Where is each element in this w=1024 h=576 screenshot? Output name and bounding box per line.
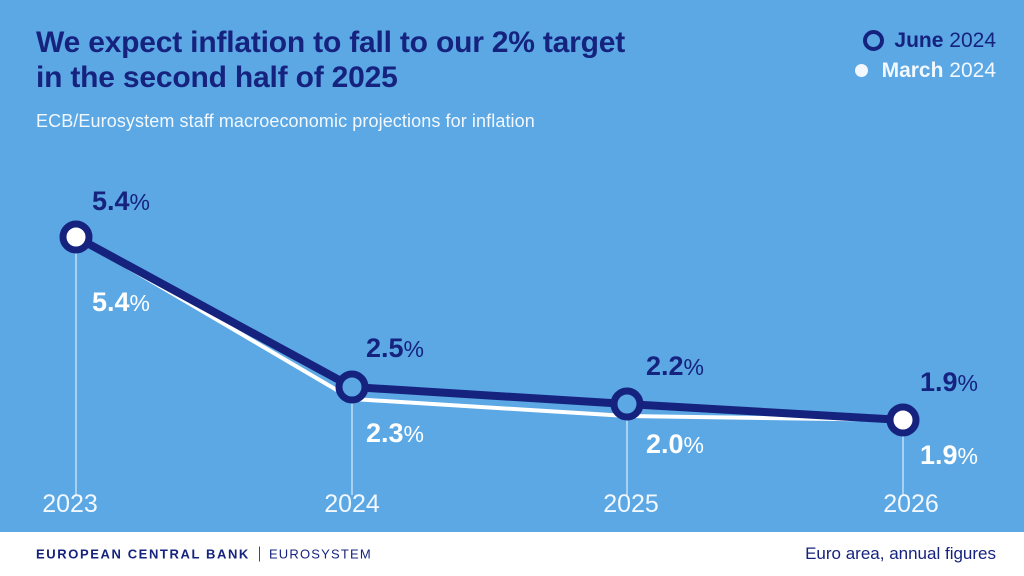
legend-item-june[interactable]: June 2024 [863, 30, 996, 51]
legend-march-name: March [882, 59, 944, 82]
legend-june-name: June [894, 29, 943, 52]
gridlines [76, 245, 903, 495]
logo-divider [259, 547, 260, 562]
x-tick-2023: 2023 [42, 492, 98, 517]
footer-note: Euro area, annual figures [805, 544, 996, 564]
ecb-logo: EUROPEAN CENTRAL BANK EUROSYSTEM [36, 547, 372, 562]
series-line-june [76, 237, 903, 420]
chart-panel: We expect inflation to fall to our 2% ta… [0, 0, 1024, 532]
value-label-march-2023: 5.4% [92, 289, 150, 316]
footer-bar: EUROPEAN CENTRAL BANK EUROSYSTEM Euro ar… [0, 532, 1024, 576]
legend-item-march[interactable]: March 2024 [855, 60, 996, 81]
ring-marker-icon [863, 30, 884, 51]
x-tick-2026: 2026 [883, 492, 939, 517]
legend-june-year: 2024 [949, 29, 996, 52]
value-label-march-2025: 2.0% [646, 431, 704, 458]
legend-label-march: March 2024 [882, 60, 996, 81]
title-line-2: in the second half of 2025 [36, 61, 736, 96]
logo-primary-text: EUROPEAN CENTRAL BANK [36, 547, 250, 562]
page-subtitle: ECB/Eurosystem staff macroeconomic proje… [36, 111, 736, 132]
value-label-june-2023: 5.4% [92, 188, 150, 215]
x-axis: 2023 2024 2025 2026 [0, 492, 1024, 526]
value-label-june-2026: 1.9% [920, 369, 978, 396]
value-label-june-2024: 2.5% [366, 335, 424, 362]
logo-secondary-text: EUROSYSTEM [269, 547, 372, 562]
title-line-1: We expect inflation to fall to our 2% ta… [36, 26, 625, 59]
legend-label-june: June 2024 [894, 30, 996, 51]
plot-area: 5.4% 2.5% 2.2% 1.9% 5.4% 2.3% 2.0% 1.9 [0, 150, 1024, 495]
dot-marker-icon [855, 64, 868, 77]
chart-infographic: We expect inflation to fall to our 2% ta… [0, 0, 1024, 576]
chart-legend: June 2024 March 2024 [855, 30, 996, 81]
x-tick-2024: 2024 [324, 492, 380, 517]
page-title: We expect inflation to fall to our 2% ta… [36, 26, 736, 96]
series-markers-june [63, 224, 916, 433]
value-label-march-2026: 1.9% [920, 442, 978, 469]
legend-march-year: 2024 [949, 59, 996, 82]
value-label-march-2024: 2.3% [366, 420, 424, 447]
value-label-june-2025: 2.2% [646, 353, 704, 380]
x-tick-2025: 2025 [603, 492, 659, 517]
